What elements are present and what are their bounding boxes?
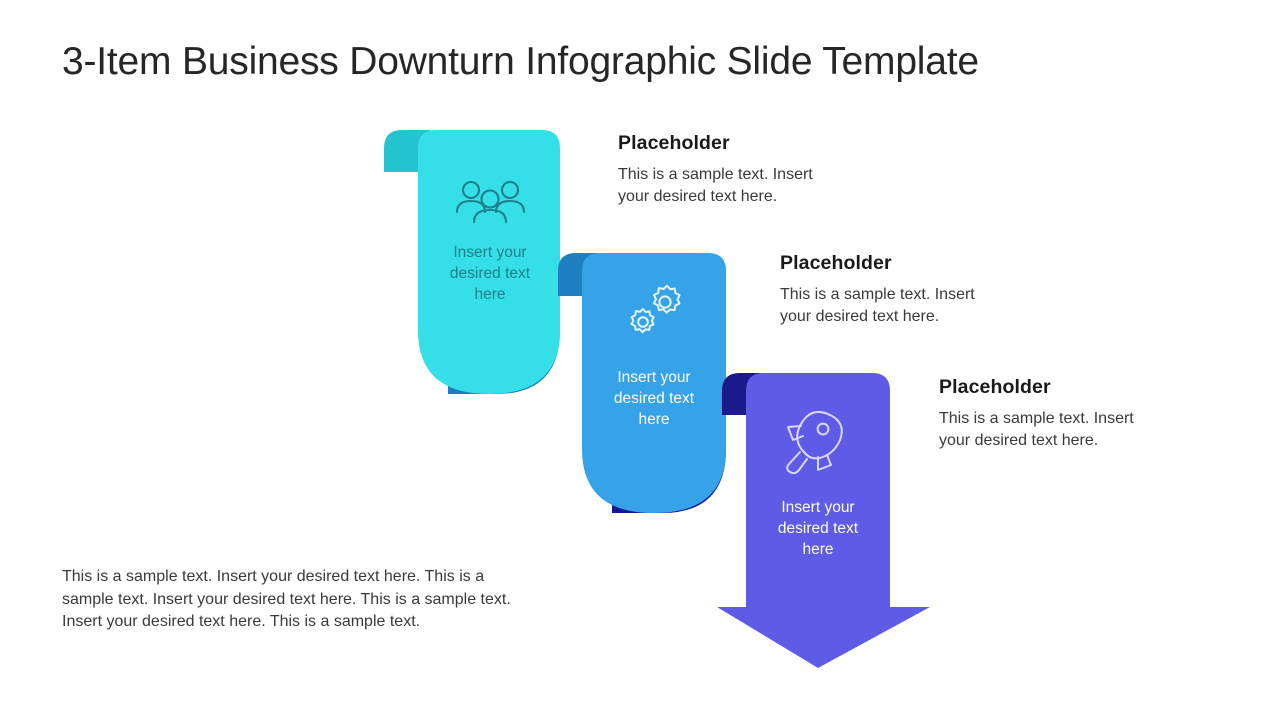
- step-1-shape-text: Insert your desired text here: [420, 243, 560, 305]
- placeholder-body-3: This is a sample text. Insert your desir…: [939, 408, 1239, 452]
- placeholder-body-2: This is a sample text. Insert your desir…: [780, 284, 1080, 328]
- placeholder-block-2: Placeholder This is a sample text. Inser…: [780, 252, 1080, 328]
- footer-paragraph: This is a sample text. Insert your desir…: [62, 566, 592, 634]
- step-3-shape-text: Insert your desired text here: [748, 498, 888, 560]
- placeholder-block-1: Placeholder This is a sample text. Inser…: [618, 132, 918, 208]
- placeholder-heading-3: Placeholder: [939, 376, 1239, 399]
- placeholder-body-1: This is a sample text. Insert your desir…: [618, 164, 918, 208]
- slide-canvas: 3-Item Business Downturn Infographic Sli…: [0, 0, 1280, 720]
- placeholder-heading-1: Placeholder: [618, 132, 918, 155]
- step-2-shape-text: Insert your desired text here: [584, 368, 724, 430]
- placeholder-heading-2: Placeholder: [780, 252, 1080, 275]
- placeholder-block-3: Placeholder This is a sample text. Inser…: [939, 376, 1239, 452]
